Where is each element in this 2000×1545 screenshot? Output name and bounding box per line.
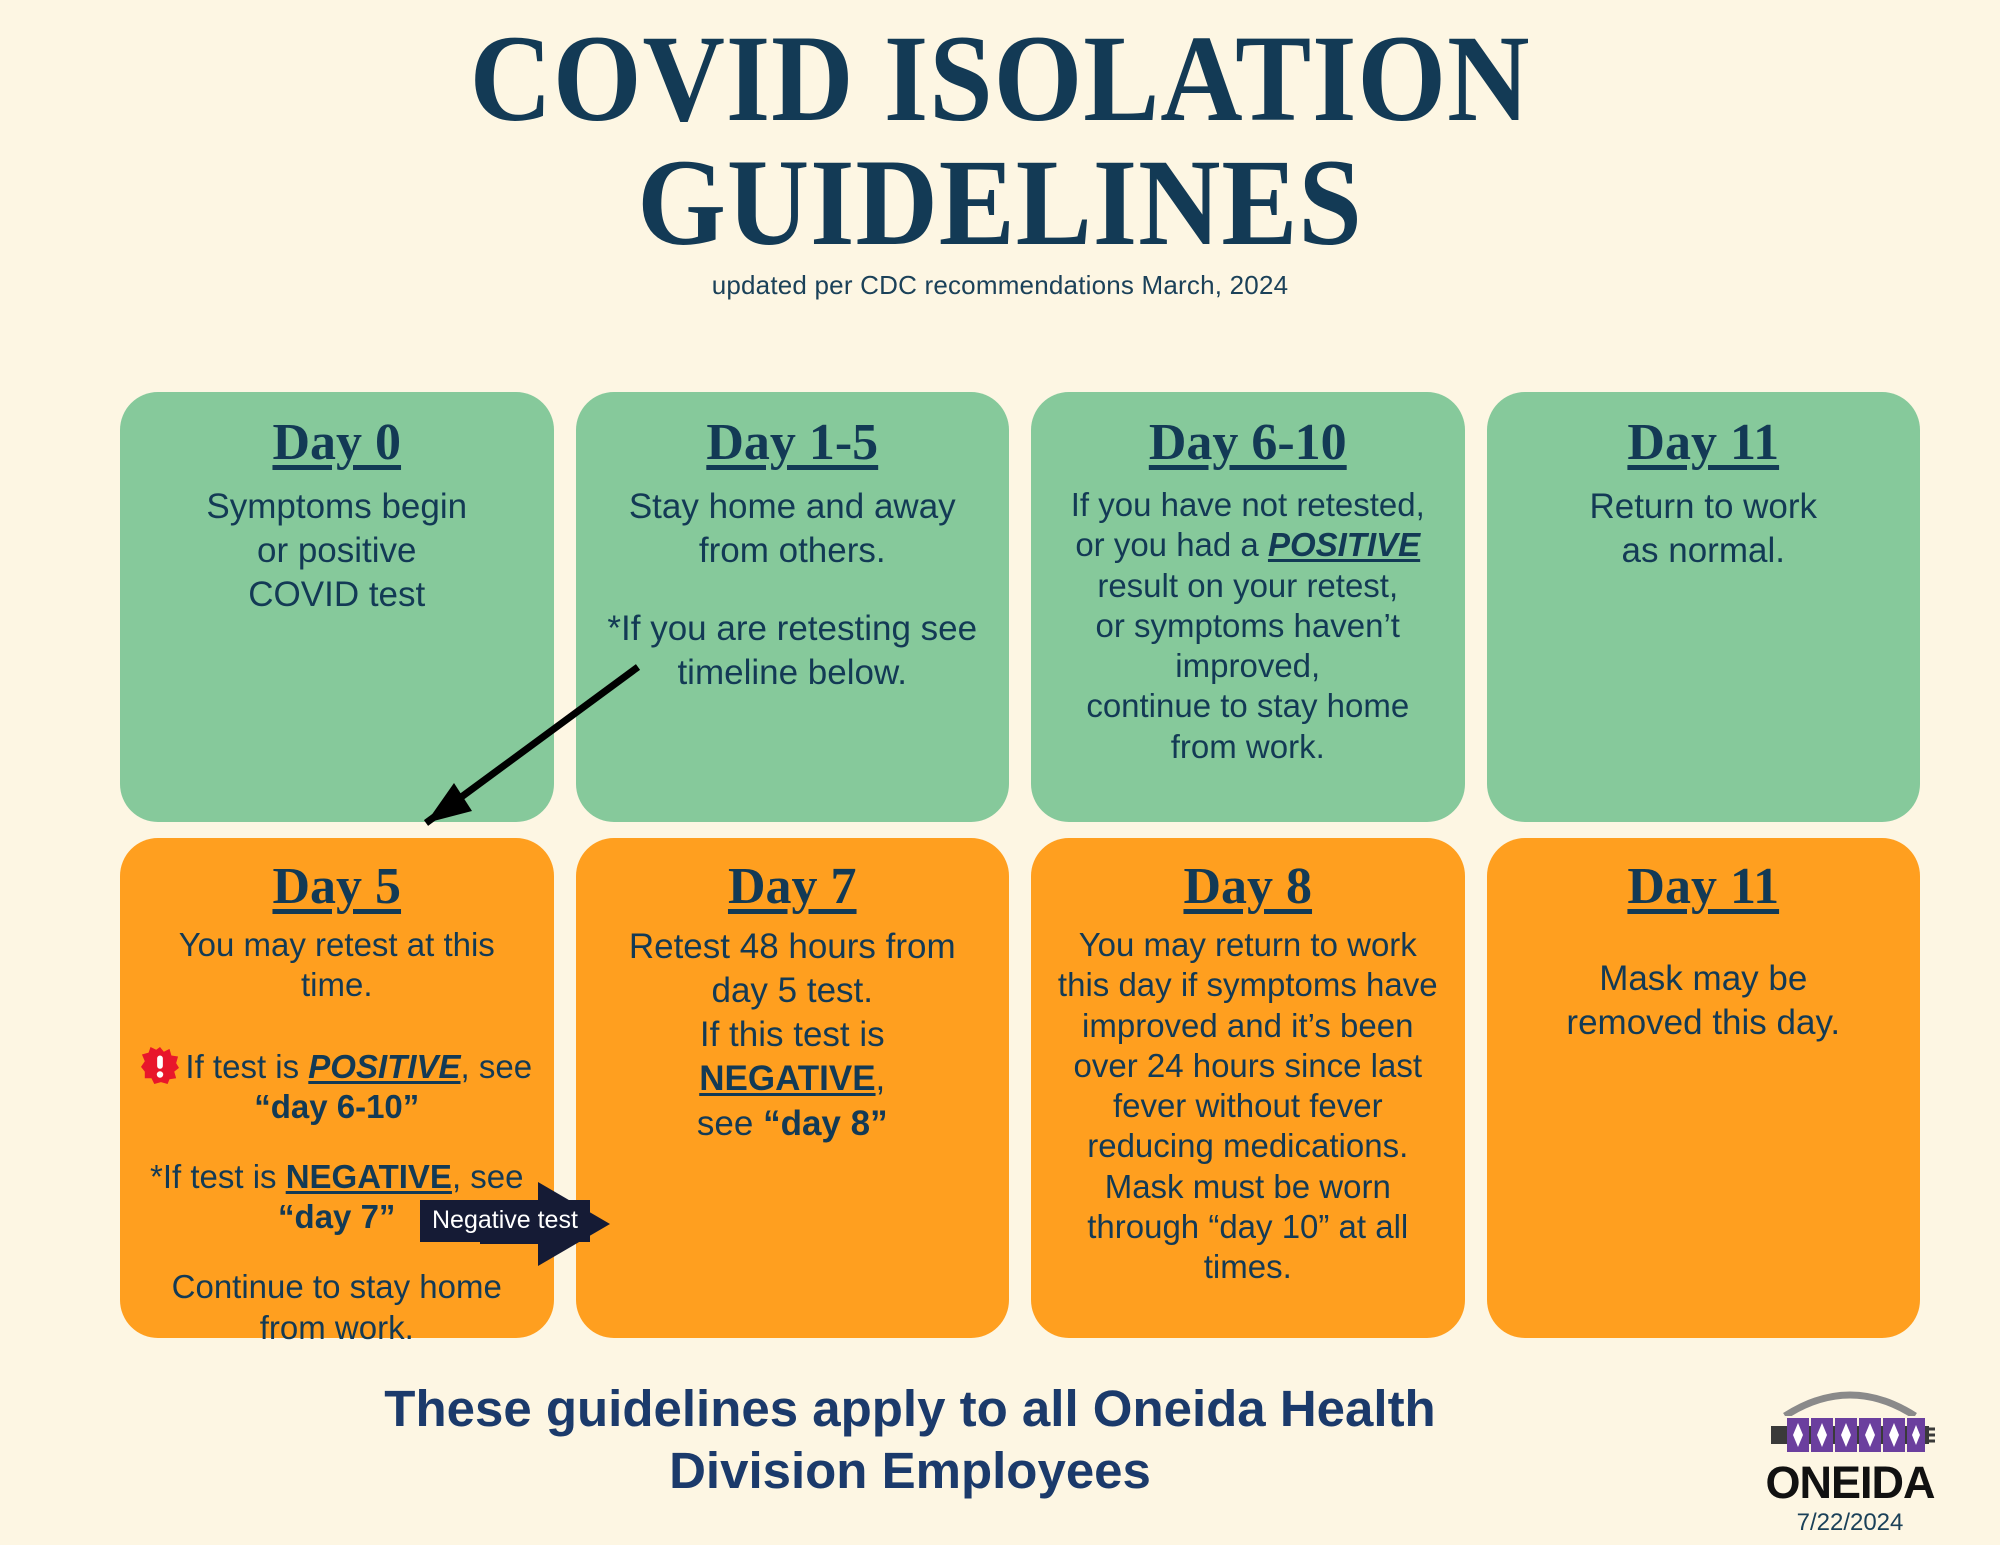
card-day-7-line-3-pre: see — [697, 1104, 763, 1143]
card-day-5-emphasis-positive: POSITIVE — [308, 1048, 460, 1085]
card-day-5-line-3-quote: “day 7” — [278, 1198, 395, 1235]
negative-test-arrow: Negative test — [420, 1180, 670, 1290]
negative-test-label: Negative test — [420, 1200, 590, 1242]
card-day-8: Day 8 You may return to work this day if… — [1031, 838, 1465, 1338]
card-day-0-body: Symptoms begin or positive COVID test — [134, 485, 540, 617]
logo-date: 7/22/2024 — [1735, 1509, 1965, 1537]
card-day-5-line-3-pre: *If test is — [150, 1158, 286, 1195]
card-day-1-5-heading: Day 1-5 — [590, 414, 996, 471]
card-day-6-10-body: If you have not retested, or you had a P… — [1045, 485, 1451, 767]
card-day-11-orange: Day 11 Mask may be removed this day. — [1487, 838, 1921, 1338]
card-day-5-heading: Day 5 — [134, 858, 540, 915]
logo-arc-icon — [1775, 1382, 1925, 1416]
page-title-block: COVID ISOLATION GUIDELINES updated per C… — [0, 22, 2000, 301]
card-day-6-10-heading: Day 6-10 — [1045, 414, 1451, 471]
card-day-5-line-2-pre: If test is — [185, 1048, 308, 1085]
infographic-page: COVID ISOLATION GUIDELINES updated per C… — [0, 0, 2000, 1545]
green-card-row: Day 0 Symptoms begin or positive COVID t… — [120, 392, 1920, 822]
card-day-11-green-body: Return to work as normal. — [1501, 485, 1907, 573]
card-day-7-body: Retest 48 hours from day 5 test.If this … — [590, 925, 996, 1145]
card-day-8-heading: Day 8 — [1045, 858, 1451, 915]
card-day-7-line-2: If this test is — [700, 1015, 885, 1054]
card-day-11-green-heading: Day 11 — [1501, 414, 1907, 471]
oneida-logo: ONEIDA 7/22/2024 — [1735, 1382, 1965, 1537]
exclamation-badge-icon — [141, 1046, 179, 1084]
card-day-1-5-body-note: *If you are retesting see timeline below… — [590, 607, 996, 695]
card-day-5-line-2-mid: , see — [461, 1048, 533, 1085]
card-day-1-5: Day 1-5 Stay home and away from others. … — [576, 392, 1010, 822]
card-day-11-orange-heading: Day 11 — [1501, 858, 1907, 915]
card-day-5-line-1: You may retest at this time. — [179, 926, 495, 1003]
card-day-6-10: Day 6-10 If you have not retested, or yo… — [1031, 392, 1465, 822]
card-day-1-5-body-primary: Stay home and away from others. — [590, 485, 996, 573]
page-title-line-1: COVID ISOLATION — [80, 22, 1920, 136]
card-day-6-10-emphasis-positive: POSITIVE — [1268, 526, 1420, 563]
card-day-7-heading: Day 7 — [590, 858, 996, 915]
footer-statement: These guidelines apply to all Oneida Hea… — [130, 1378, 1690, 1502]
card-day-8-body: You may return to work this day if sympt… — [1045, 925, 1451, 1287]
card-day-7-line-3-quote: “day 8” — [763, 1104, 888, 1143]
card-day-5-line-2-quote: “day 6-10” — [254, 1088, 419, 1125]
card-day-7-comma: , — [876, 1059, 886, 1098]
card-day-0: Day 0 Symptoms begin or positive COVID t… — [120, 392, 554, 822]
logo-wampum-belt-icon — [1765, 1412, 1935, 1458]
logo-wordmark: ONEIDA — [1735, 1460, 1965, 1505]
card-day-0-heading: Day 0 — [134, 414, 540, 471]
orange-card-row: Day 5 You may retest at this time. If te… — [120, 838, 1920, 1338]
card-day-11-green: Day 11 Return to work as normal. — [1487, 392, 1921, 822]
card-day-7-line-1: Retest 48 hours from day 5 test. — [629, 927, 956, 1010]
page-title-line-2: GUIDELINES — [80, 146, 1920, 260]
page-subtitle: updated per CDC recommendations March, 2… — [0, 270, 2000, 301]
card-day-7-emphasis-negative: NEGATIVE — [699, 1059, 875, 1098]
card-day-11-orange-body: Mask may be removed this day. — [1501, 957, 1907, 1045]
card-day-6-10-text-post: result on your retest, or symptoms haven… — [1086, 567, 1409, 765]
